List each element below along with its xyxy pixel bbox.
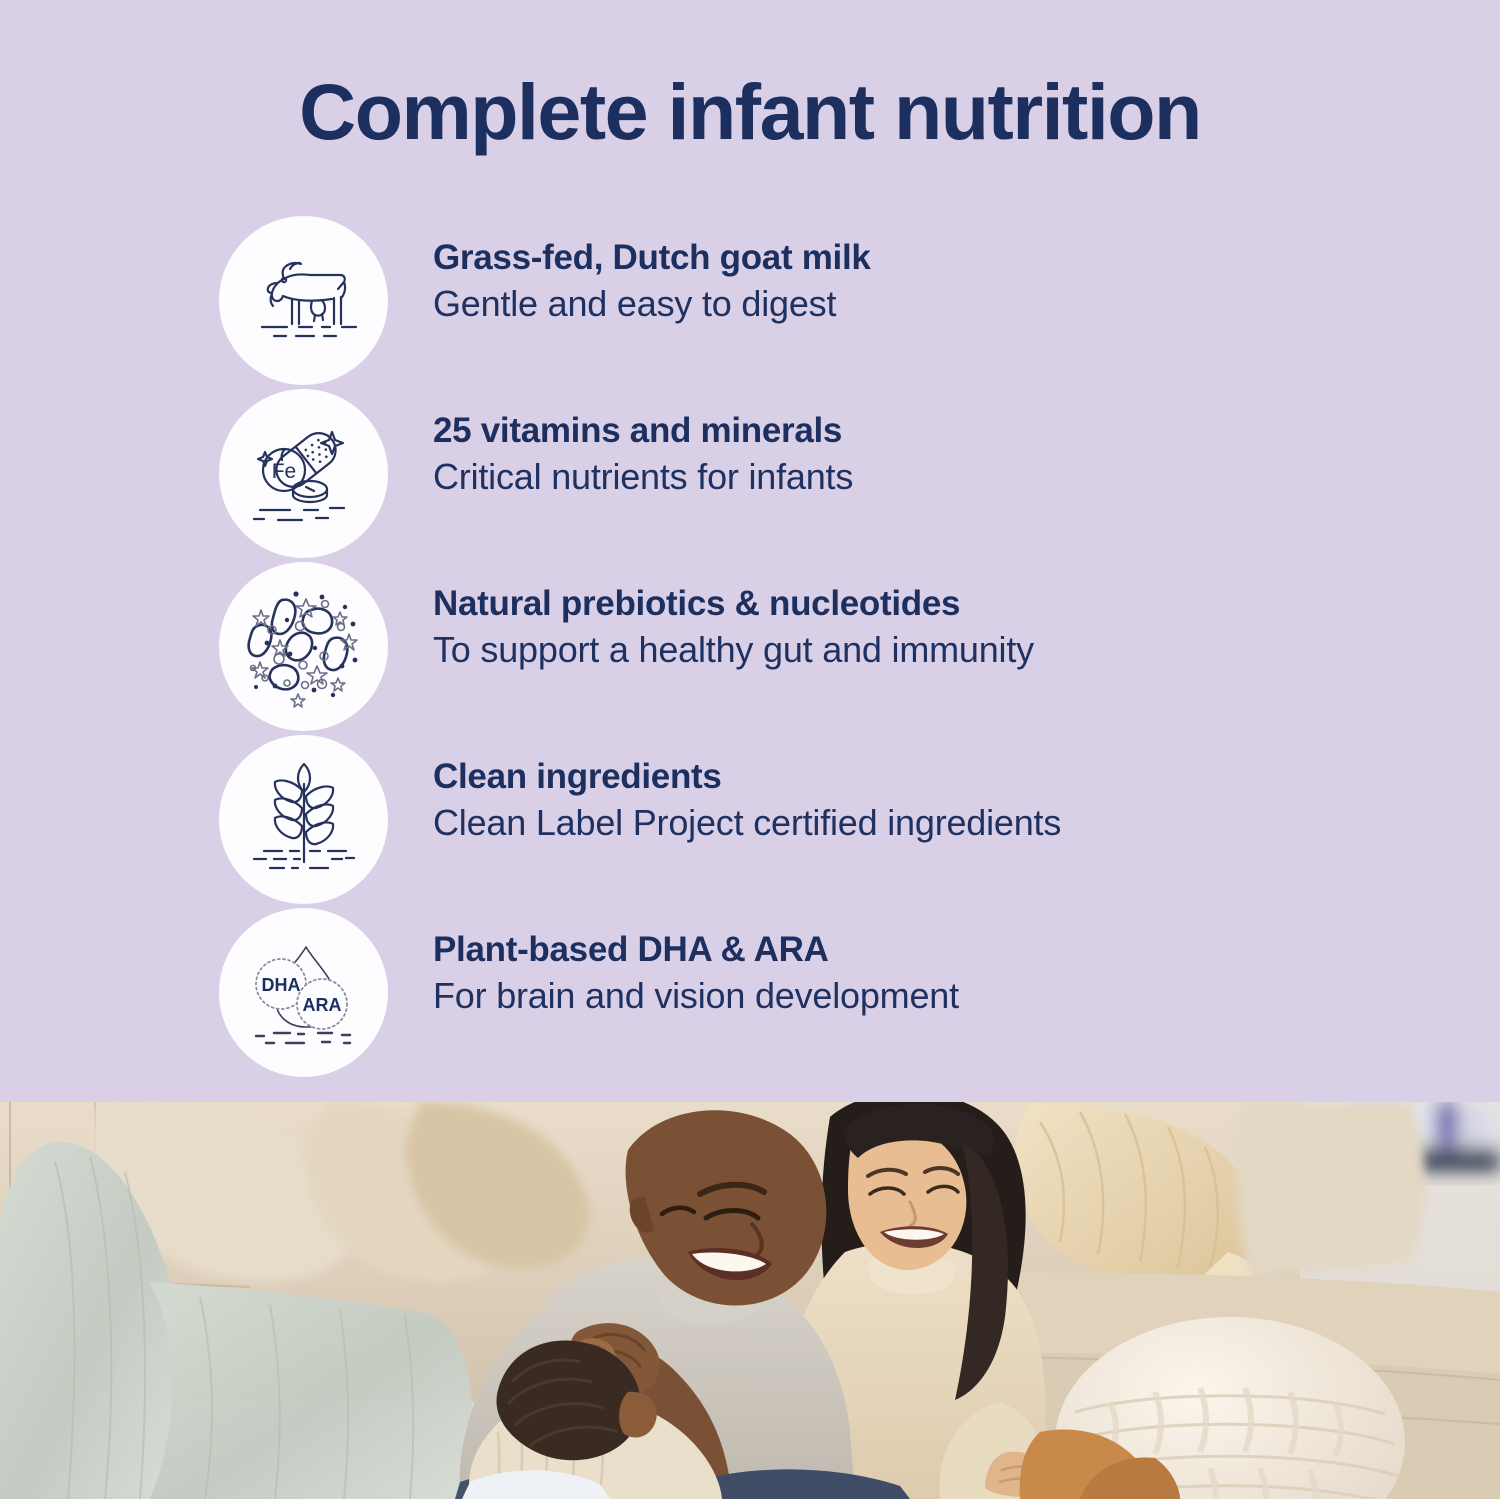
- benefit-text: Natural prebiotics & nucleotides To supp…: [433, 584, 1453, 671]
- fe-label: Fe: [271, 460, 296, 483]
- benefit-subtitle: For brain and vision development: [433, 975, 1453, 1016]
- benefit-title: Clean ingredients: [433, 757, 1453, 797]
- dha-ara-droplet-icon: DHA ARA: [219, 908, 388, 1077]
- benefit-text: Grass-fed, Dutch goat milk Gentle and ea…: [433, 238, 1453, 325]
- page-title: Complete infant nutrition: [0, 72, 1500, 151]
- infographic-page: Complete infant nutrition: [0, 0, 1500, 1499]
- vitamins-capsule-icon: Fe: [219, 389, 388, 558]
- benefit-subtitle: Gentle and easy to digest: [433, 283, 1453, 324]
- benefit-title: Natural prebiotics & nucleotides: [433, 584, 1453, 624]
- dha-label: DHA: [261, 975, 300, 995]
- wheat-stalk-icon: [219, 735, 388, 904]
- benefit-text: 25 vitamins and minerals Critical nutrie…: [433, 411, 1453, 498]
- benefit-text: Plant-based DHA & ARA For brain and visi…: [433, 930, 1453, 1017]
- goat-icon: [219, 216, 388, 385]
- benefit-title: 25 vitamins and minerals: [433, 411, 1453, 451]
- benefit-row: Clean ingredients Clean Label Project ce…: [0, 735, 1500, 908]
- benefit-subtitle: Critical nutrients for infants: [433, 456, 1453, 497]
- benefit-list: Grass-fed, Dutch goat milk Gentle and ea…: [0, 216, 1500, 1081]
- probiotics-bacteria-icon: [219, 562, 388, 731]
- ara-label: ARA: [302, 995, 341, 1015]
- benefit-row: Fe: [0, 389, 1500, 562]
- family-lifestyle-photo: [0, 1102, 1500, 1499]
- benefit-subtitle: To support a healthy gut and immunity: [433, 629, 1453, 670]
- benefit-row: Grass-fed, Dutch goat milk Gentle and ea…: [0, 216, 1500, 389]
- benefit-subtitle: Clean Label Project certified ingredient…: [433, 802, 1453, 843]
- benefit-row: DHA ARA: [0, 908, 1500, 1081]
- sofa-pillow-left: [90, 1102, 590, 1282]
- benefit-title: Grass-fed, Dutch goat milk: [433, 238, 1453, 278]
- benefit-title: Plant-based DHA & ARA: [433, 930, 1453, 970]
- benefit-text: Clean ingredients Clean Label Project ce…: [433, 757, 1453, 844]
- nutrition-panel: Complete infant nutrition: [0, 0, 1500, 1102]
- benefit-row: Natural prebiotics & nucleotides To supp…: [0, 562, 1500, 735]
